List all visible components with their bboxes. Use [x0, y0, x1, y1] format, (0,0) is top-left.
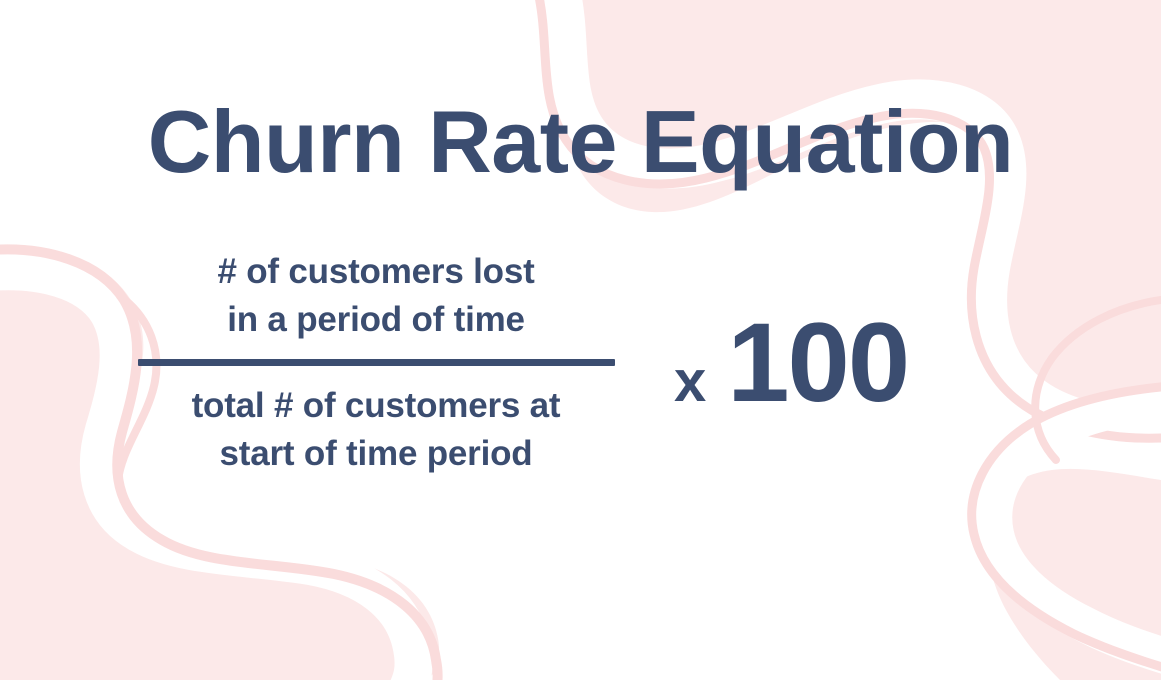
multiplier-value: 100 [727, 307, 908, 419]
denominator-line-2: start of time period [192, 430, 561, 478]
content-layer: Churn Rate Equation # of customers lost … [0, 0, 1161, 680]
numerator-line-1: # of customers lost [217, 248, 534, 296]
numerator-line-2: in a period of time [217, 296, 534, 344]
fraction: # of customers lost in a period of time … [120, 248, 632, 478]
infographic-canvas: Churn Rate Equation # of customers lost … [0, 0, 1161, 680]
page-title: Churn Rate Equation [0, 96, 1161, 188]
equation-block: # of customers lost in a period of time … [120, 248, 950, 478]
multiplier-group: x 100 [674, 307, 908, 419]
denominator-line-1: total # of customers at [192, 382, 561, 430]
multiply-symbol: x [674, 353, 705, 411]
fraction-denominator: total # of customers at start of time pe… [192, 366, 561, 479]
fraction-bar [138, 359, 615, 366]
fraction-numerator: # of customers lost in a period of time [217, 248, 534, 359]
